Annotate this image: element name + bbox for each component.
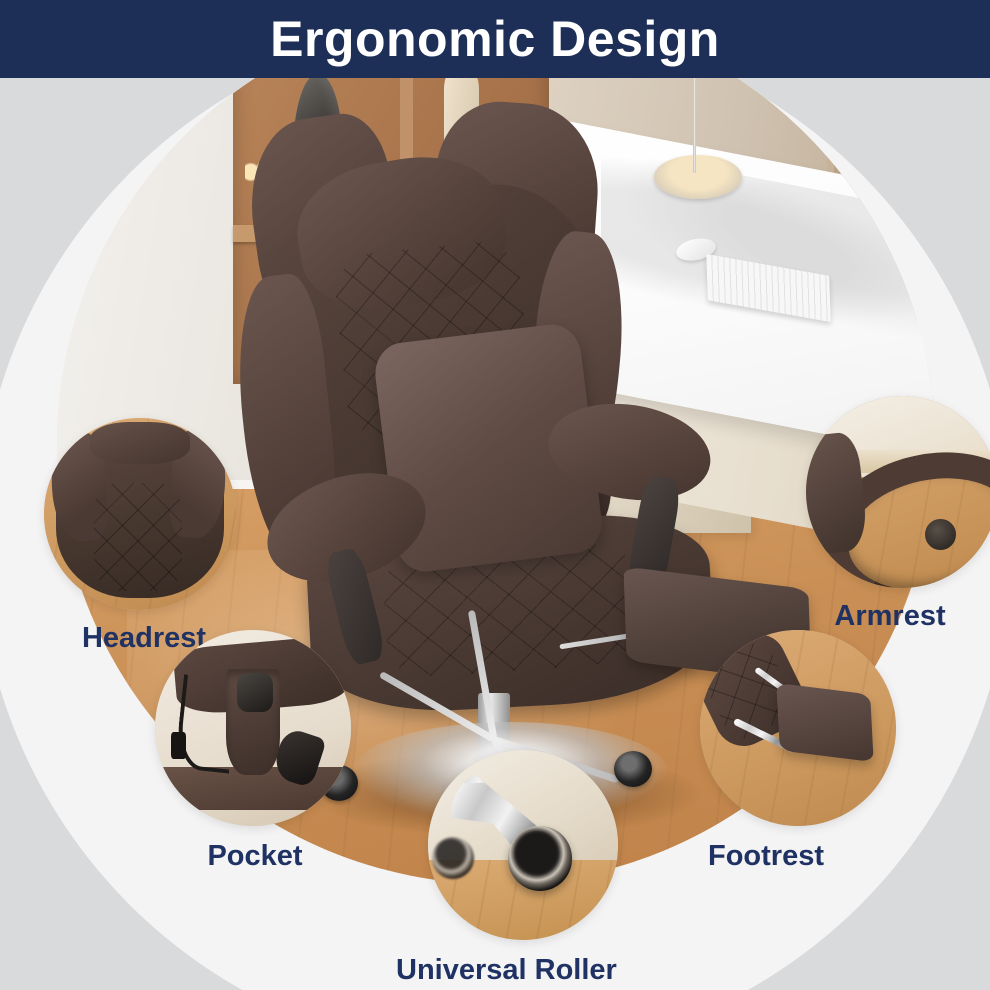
feature-headrest: Headrest xyxy=(44,418,244,610)
feature-footrest: Footrest xyxy=(700,630,900,826)
product-feature-infographic: Ergonomic Design xyxy=(0,0,990,990)
feature-label-footrest: Footrest xyxy=(666,842,866,871)
universal-roller-thumbnail xyxy=(428,750,618,940)
feature-label-pocket: Pocket xyxy=(155,842,355,871)
page-title: Ergonomic Design xyxy=(270,14,720,64)
massage-remote xyxy=(237,673,272,712)
armrest-thumbnail xyxy=(806,396,990,588)
feature-pocket: Pocket xyxy=(155,630,355,826)
pocket-thumbnail xyxy=(155,630,351,826)
secondary-caster-wheel xyxy=(432,837,474,879)
armrest-hinge xyxy=(925,519,956,550)
footrest-thumbnail xyxy=(700,630,896,826)
header-banner: Ergonomic Design xyxy=(0,0,990,78)
feature-armrest: Armrest xyxy=(806,396,990,588)
feature-universal-roller: Universal Roller xyxy=(428,750,624,940)
footrest-cushion xyxy=(777,683,874,762)
headrest-top-pad xyxy=(90,422,190,464)
feature-label-armrest: Armrest xyxy=(790,602,990,631)
feature-label-universal-roller: Universal Roller xyxy=(396,956,592,985)
power-plug xyxy=(171,732,187,759)
caster-wheel xyxy=(508,826,573,891)
infographic-stage: Headrest Armrest xyxy=(0,78,990,990)
headrest-thumbnail xyxy=(44,418,236,610)
flower-bouquet xyxy=(416,78,511,82)
headrest-quilting xyxy=(94,483,182,591)
